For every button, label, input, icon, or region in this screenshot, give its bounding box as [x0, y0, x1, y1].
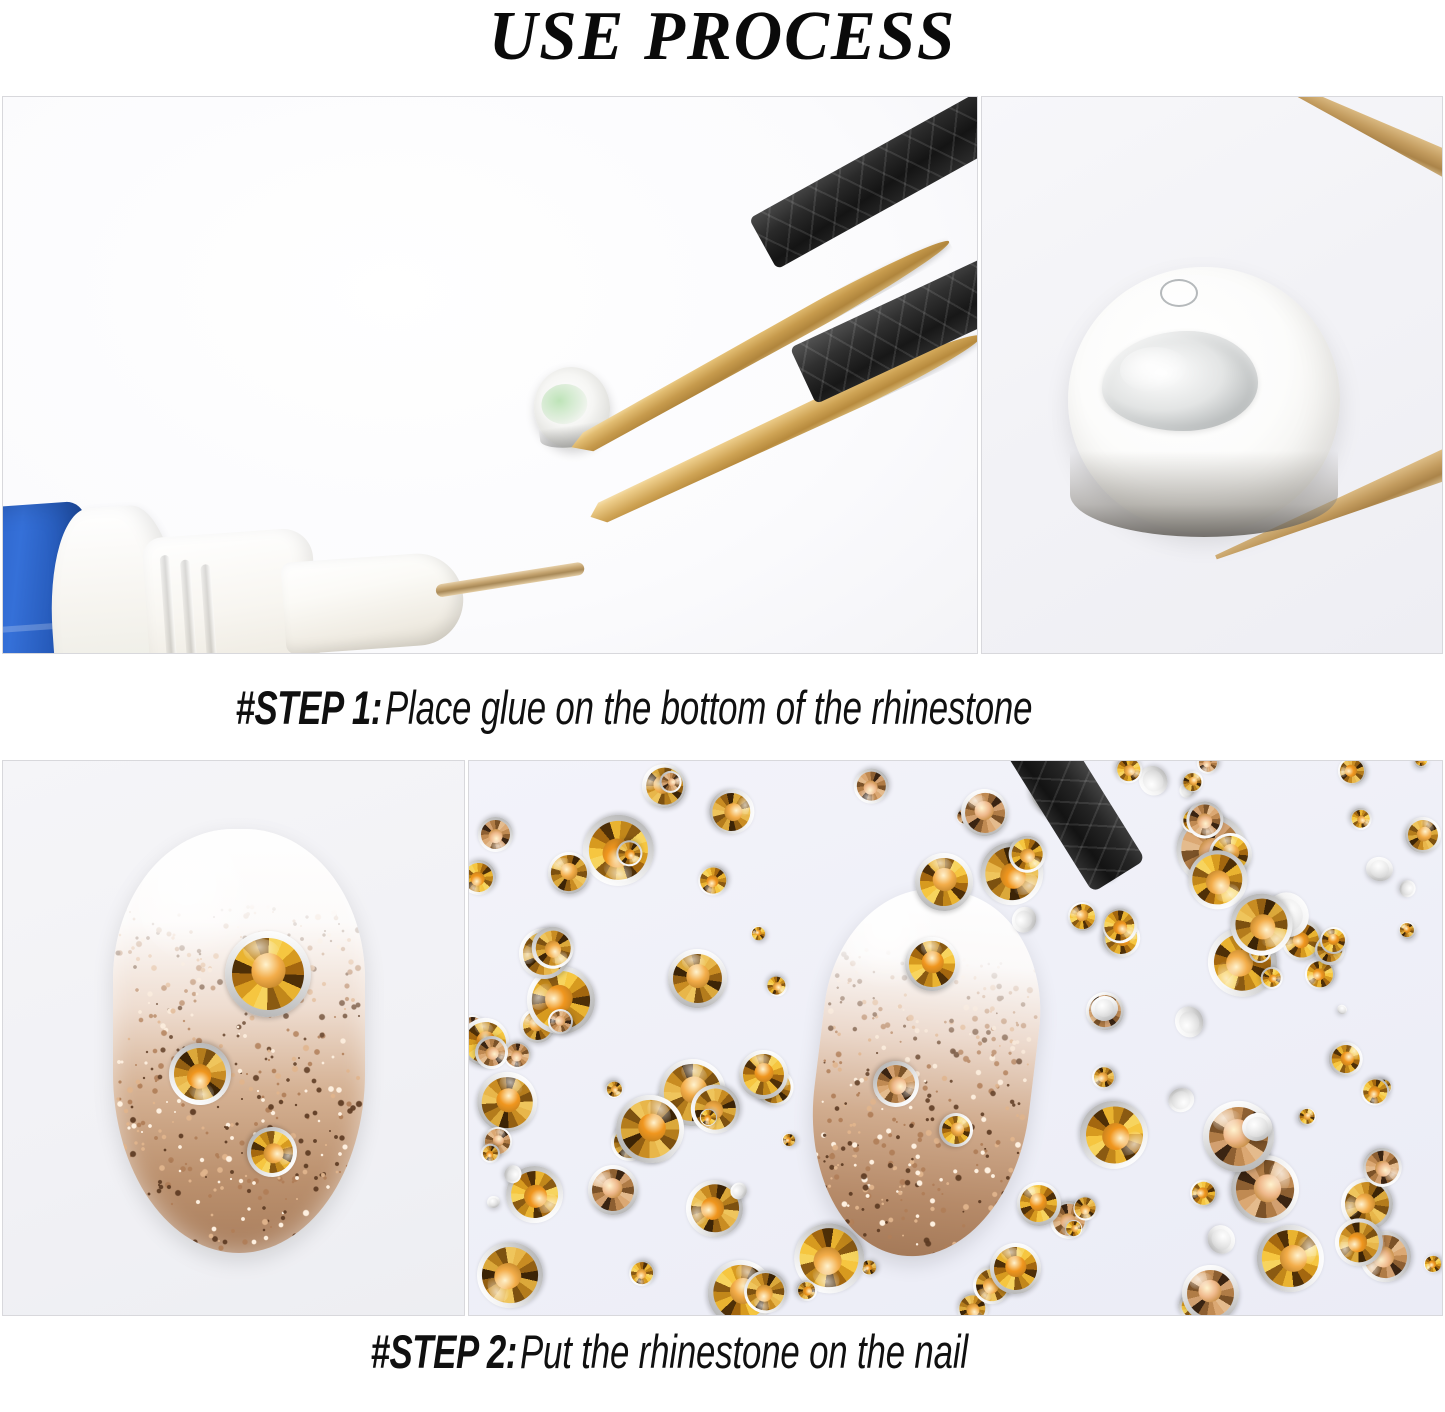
step-1-text: Place glue on the bottom of the rhinesto… [382, 680, 1032, 735]
glue-bubble [1160, 279, 1198, 307]
rhinestone [624, 1255, 661, 1292]
rhinestone [1186, 1176, 1222, 1212]
rhinestone [1256, 1224, 1325, 1293]
rhinestone [582, 1158, 645, 1221]
rhinestone [763, 971, 791, 999]
rhinestone [957, 785, 1013, 841]
rhinestone-foil-back [1364, 854, 1395, 883]
rhinestone-scatter-photo [468, 760, 1443, 1316]
rhinestone-foil-back [1165, 1084, 1198, 1116]
step-2-image-row [2, 760, 1443, 1316]
step-2-label: #STEP 2: [370, 1324, 517, 1379]
rhinestone [1345, 804, 1375, 834]
rhinestone [603, 1078, 625, 1100]
rhinestone [1423, 1254, 1443, 1274]
rhinestone [663, 945, 731, 1013]
rhinestone [1066, 1087, 1161, 1182]
rhinestone [1411, 760, 1431, 771]
rhinestone [748, 923, 769, 944]
glue-bottle [2, 463, 503, 654]
rhinestone-back-photo [981, 96, 1443, 654]
header: USE PROCESS [0, 0, 1445, 96]
rhinestone-foil-back [1203, 1220, 1240, 1258]
rhinestone [1397, 920, 1417, 940]
rhinestone [781, 1132, 798, 1149]
rhinestone [1062, 896, 1102, 936]
glue-bottle-tip [280, 551, 466, 654]
nail [113, 829, 365, 1253]
glue-blob [1102, 331, 1258, 431]
page-title: USE PROCESS [489, 2, 956, 72]
rhinestone [1177, 1260, 1244, 1316]
step-2-text: Put the rhinestone on the nail [517, 1324, 968, 1379]
step-2-caption: #STEP 2: Put the rhinestone on the nail [0, 1316, 1445, 1382]
rhinestone-highlight [1308, 972, 1318, 985]
step-1-caption: #STEP 1: Place glue on the bottom of the… [0, 654, 1445, 760]
rhinestone [1092, 1065, 1117, 1090]
rhinestone [468, 853, 503, 902]
rhinestone [468, 1231, 554, 1316]
rhinestone [1334, 760, 1371, 790]
finished-nail-photo [2, 760, 465, 1316]
step-1-label: #STEP 1: [236, 680, 383, 735]
rhinestone-foil-back [486, 1194, 502, 1209]
tweezer-upper-arm [1253, 96, 1443, 211]
rhinestone [691, 858, 734, 901]
rhinestone [708, 788, 755, 835]
rhinestone-foil-back [1397, 878, 1417, 899]
rhinestone [1295, 1106, 1318, 1129]
rhinestone-highlight [969, 1311, 983, 1316]
step-1-image-row [2, 96, 1443, 654]
rhinestone-foil-back [1335, 1002, 1349, 1015]
nail [795, 877, 1054, 1269]
rhinestone-rim [1070, 451, 1338, 537]
rhinestone [1355, 1071, 1395, 1111]
rhinestone [1398, 810, 1443, 860]
rhinestone [1326, 1039, 1367, 1080]
rhinestone [846, 762, 895, 811]
rhinestone [475, 813, 518, 856]
glue-application-photo [2, 96, 978, 654]
rhinestone-foil-back [1172, 1004, 1207, 1041]
rhinestone-flat-back [1068, 267, 1340, 533]
